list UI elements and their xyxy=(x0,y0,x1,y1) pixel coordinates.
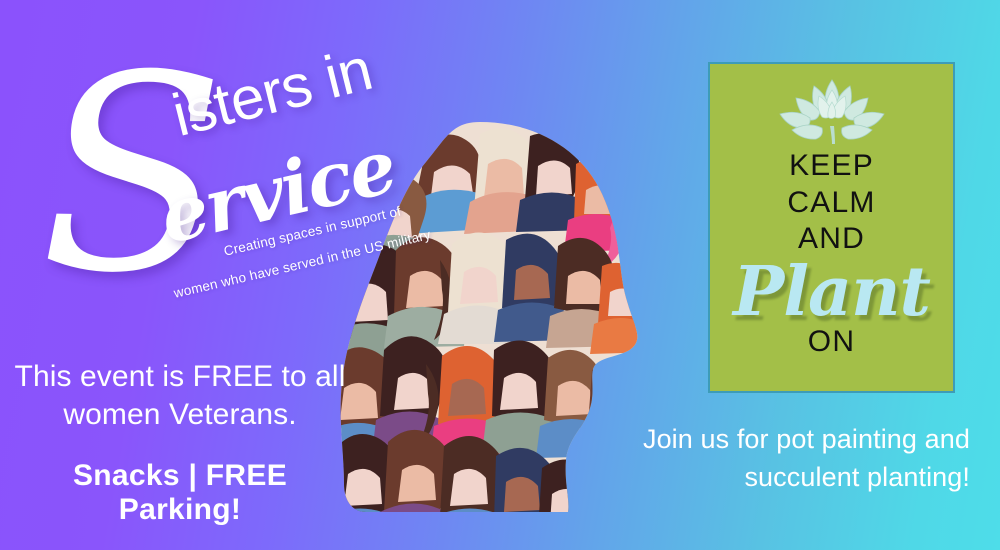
keep-calm-line-calm: CALM xyxy=(787,185,875,222)
brand-logo: S isters in ervice Creating spaces in su… xyxy=(26,48,446,318)
succulent-icon xyxy=(772,76,892,144)
keep-calm-line-keep: KEEP xyxy=(789,148,874,185)
event-flyer: S isters in ervice Creating spaces in su… xyxy=(0,0,1000,550)
event-perks-notice: Snacks | FREE Parking! xyxy=(10,459,350,527)
call-to-action-text: Join us for pot painting and succulent p… xyxy=(575,420,970,497)
keep-calm-script-plant: Plant xyxy=(733,260,930,325)
keep-calm-line-on: ON xyxy=(808,324,855,361)
keep-calm-and-plant-on-poster: KEEP CALM AND Plant ON xyxy=(708,62,955,393)
event-free-notice: This event is FREE to all women Veterans… xyxy=(10,358,350,435)
